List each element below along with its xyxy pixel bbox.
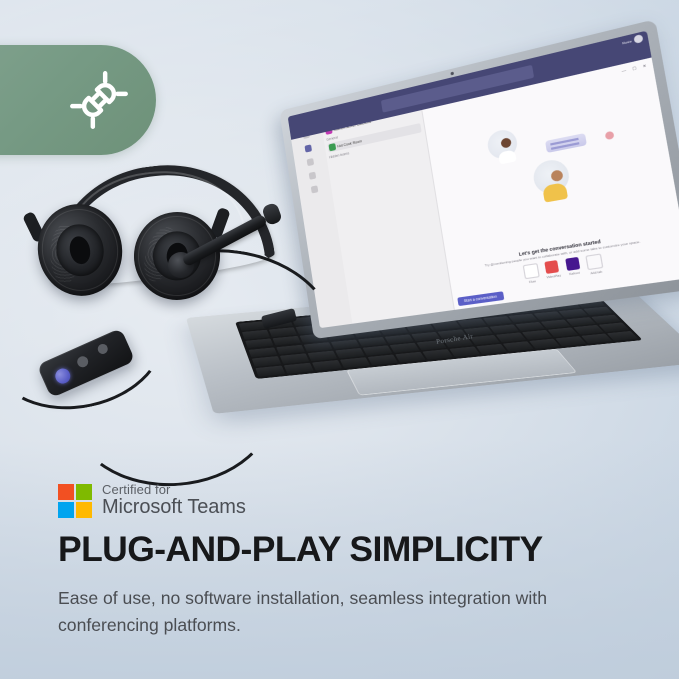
plug-connector-icon <box>68 69 130 131</box>
app-videoplay[interactable]: VideoPlay <box>544 260 562 282</box>
rail-calendar-icon[interactable] <box>307 158 315 166</box>
app-label: Add tab <box>590 269 602 275</box>
app-kahoot[interactable]: Kahoot <box>565 257 581 279</box>
team-avatar <box>328 143 336 151</box>
logo-square-blue <box>58 502 74 518</box>
app-flow[interactable]: Flow <box>522 263 540 285</box>
avatar[interactable] <box>633 34 643 44</box>
illustration-message-bubble <box>545 133 587 153</box>
certified-for-label: Certified for <box>102 483 246 497</box>
rail-teams-icon[interactable] <box>305 144 313 152</box>
page-title: PLUG-AND-PLAY SIMPLICITY <box>58 529 543 570</box>
certification-text: Certified for Microsoft Teams <box>102 483 246 519</box>
team-name: Hot Cook Room <box>337 139 362 148</box>
microsoft-teams-label: Microsoft Teams <box>102 497 246 519</box>
flow-icon <box>522 263 539 279</box>
usb-headset <box>18 160 268 295</box>
page-subtitle: Ease of use, no software installation, s… <box>58 585 598 638</box>
rail-files-icon[interactable] <box>311 185 319 193</box>
plus-icon <box>585 253 603 270</box>
logo-square-yellow <box>76 502 92 518</box>
webcam-icon <box>450 72 454 76</box>
app-label: Flow <box>529 279 536 284</box>
rail-calls-icon[interactable] <box>309 172 317 180</box>
logo-square-green <box>76 484 92 500</box>
user-name: Rosie <box>622 38 632 45</box>
logo-square-red <box>58 484 74 500</box>
videoplay-icon <box>545 260 560 274</box>
app-add-tab[interactable]: Add tab <box>585 253 604 275</box>
app-label: VideoPlay <box>546 273 561 279</box>
microsoft-logo-icon <box>58 484 92 518</box>
product-marketing-image: Teams Your teams Kitchen server Cafeteri… <box>0 0 679 679</box>
illustration-reaction-icon <box>605 131 615 140</box>
feature-badge <box>0 45 156 155</box>
certification-badge: Certified for Microsoft Teams <box>58 483 246 519</box>
app-label: Kahoot <box>569 270 580 276</box>
start-conversation-label: Start a conversation <box>457 291 504 306</box>
user-profile[interactable]: Rosie <box>621 34 643 47</box>
kahoot-icon <box>565 257 580 271</box>
